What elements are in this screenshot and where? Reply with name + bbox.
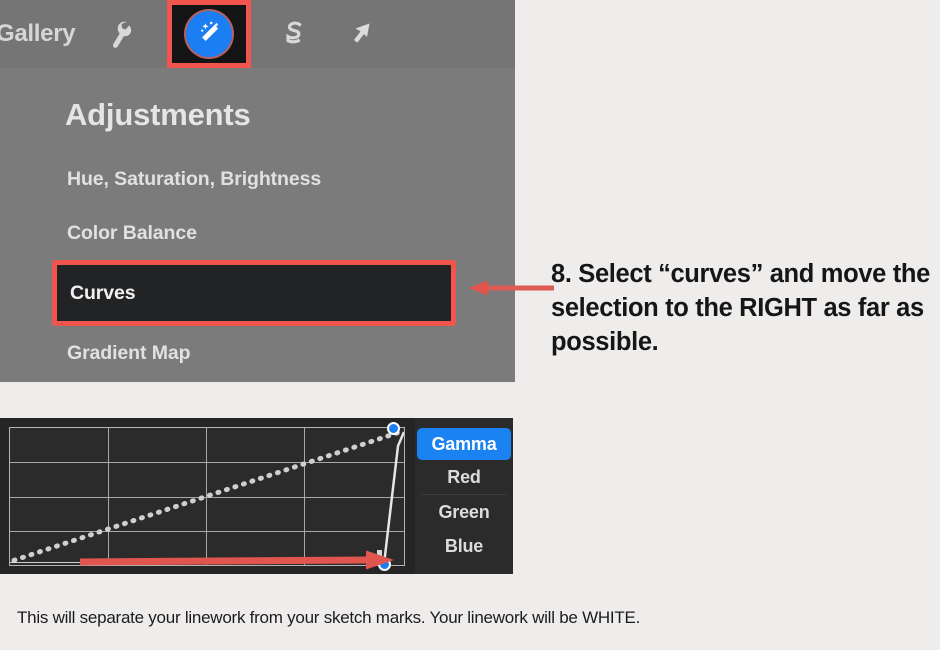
adjustment-item-hue-saturation-brightness[interactable]: Hue, Saturation, Brightness [50, 152, 460, 206]
gamma-curve-line [10, 428, 404, 563]
arrow-cursor-icon[interactable] [335, 8, 387, 60]
magic-wand-tool-button[interactable] [167, 0, 251, 68]
adjustments-title: Adjustments [65, 97, 251, 133]
footer-caption: This will separate your linework from yo… [17, 608, 640, 628]
adjustment-item-curves[interactable]: Curves [52, 260, 456, 326]
app-screenshot-panel: Gallery [0, 0, 515, 382]
channel-item-green[interactable]: Green [415, 495, 513, 529]
adjustment-item-color-balance[interactable]: Color Balance [50, 206, 460, 260]
channel-list: Gamma Red Green Blue [415, 418, 513, 574]
gallery-label[interactable]: Gallery [0, 20, 75, 48]
adjustments-list: Hue, Saturation, Brightness Color Balanc… [50, 152, 460, 380]
channel-item-gamma[interactable]: Gamma [417, 428, 511, 460]
magic-wand-icon [186, 11, 232, 57]
wrench-icon[interactable] [97, 8, 149, 60]
app-toolbar: Gallery [0, 0, 515, 68]
channel-item-red[interactable]: Red [415, 460, 513, 494]
curves-grid[interactable] [9, 427, 405, 566]
annotation-step-text: 8. Select “curves” and move the selectio… [551, 258, 939, 360]
graph-drag-arrow-right-icon [78, 549, 398, 571]
s-curve-icon[interactable] [267, 8, 319, 60]
callout-arrow-left-icon [466, 278, 556, 298]
channel-item-blue[interactable]: Blue [415, 529, 513, 563]
adjustment-item-gradient-map[interactable]: Gradient Map [50, 326, 460, 380]
